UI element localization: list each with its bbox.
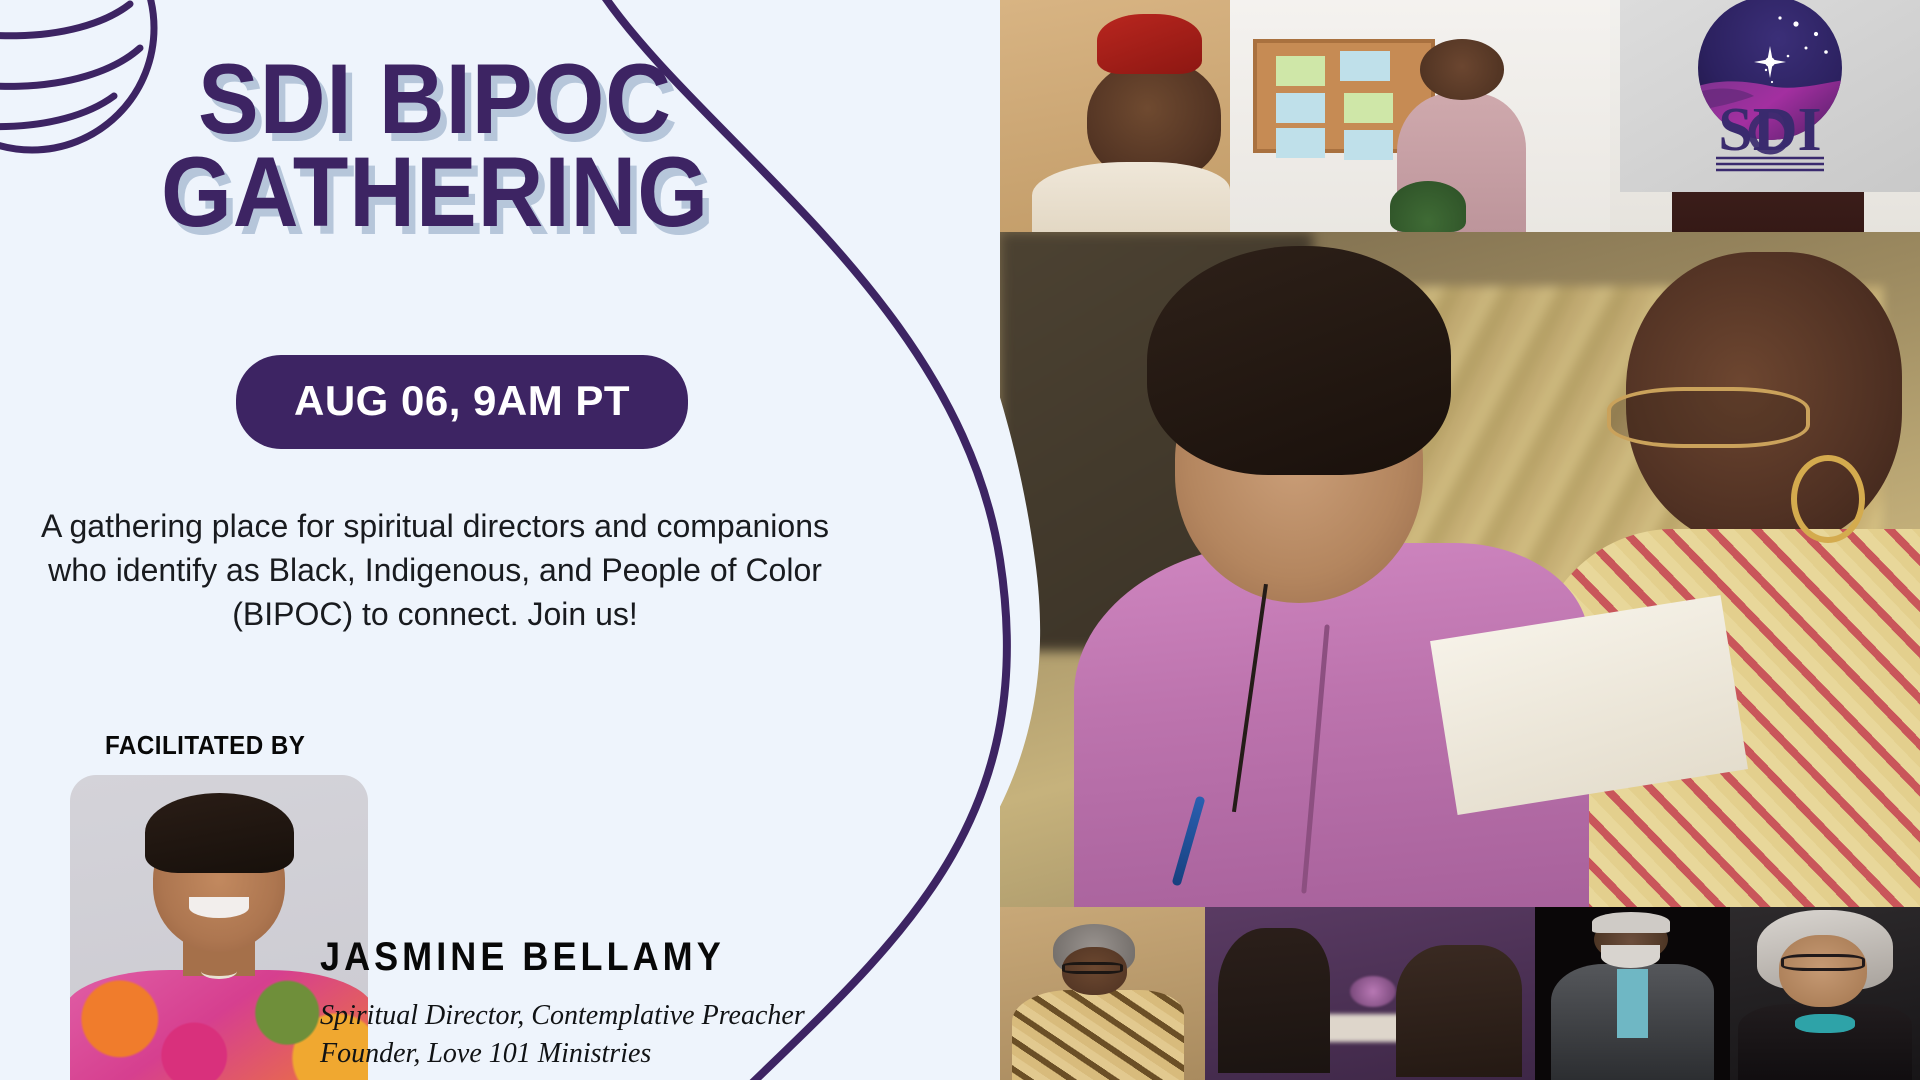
event-description: A gathering place for spiritual director…	[40, 505, 830, 636]
facilitator-role-line-2: Founder, Love 101 Ministries	[320, 1035, 960, 1073]
photo-woman-leopard-print-writing	[1000, 907, 1205, 1080]
logo-plate: SDI	[1620, 0, 1920, 192]
photo-woman-gray-hair-turquoise	[1730, 907, 1920, 1080]
photo-two-people-conversing-corkboard	[1230, 0, 1610, 232]
photo-two-women-reading-together	[1000, 232, 1920, 907]
facilitated-by-label: FACILITATED BY	[105, 730, 305, 761]
photo-man-red-cap-speaking	[1000, 0, 1230, 232]
title-line-1: SDI BIPOC	[35, 52, 835, 145]
facilitator-role: Spiritual Director, Contemplative Preach…	[320, 997, 960, 1072]
page-title: SDI BIPOC GATHERING	[35, 52, 835, 238]
collage-bottom-row	[1000, 907, 1920, 1080]
photo-two-women-talking-table	[1205, 907, 1535, 1080]
sdi-logo-icon: SDI	[1620, 0, 1920, 192]
photo-man-speaking-microphone-stage	[1535, 907, 1730, 1080]
facilitator-name: JASMINE BELLAMY	[320, 935, 725, 980]
facilitator-role-line-1: Spiritual Director, Contemplative Preach…	[320, 997, 960, 1035]
flyer-canvas: SDI SDI BIPOC GATHERING AUG 06,	[0, 0, 1920, 1080]
title-line-2: GATHERING	[35, 145, 835, 238]
text-content: SDI BIPOC GATHERING AUG 06, 9AM PT A gat…	[0, 0, 1000, 1080]
date-time-badge[interactable]: AUG 06, 9AM PT	[236, 355, 688, 449]
